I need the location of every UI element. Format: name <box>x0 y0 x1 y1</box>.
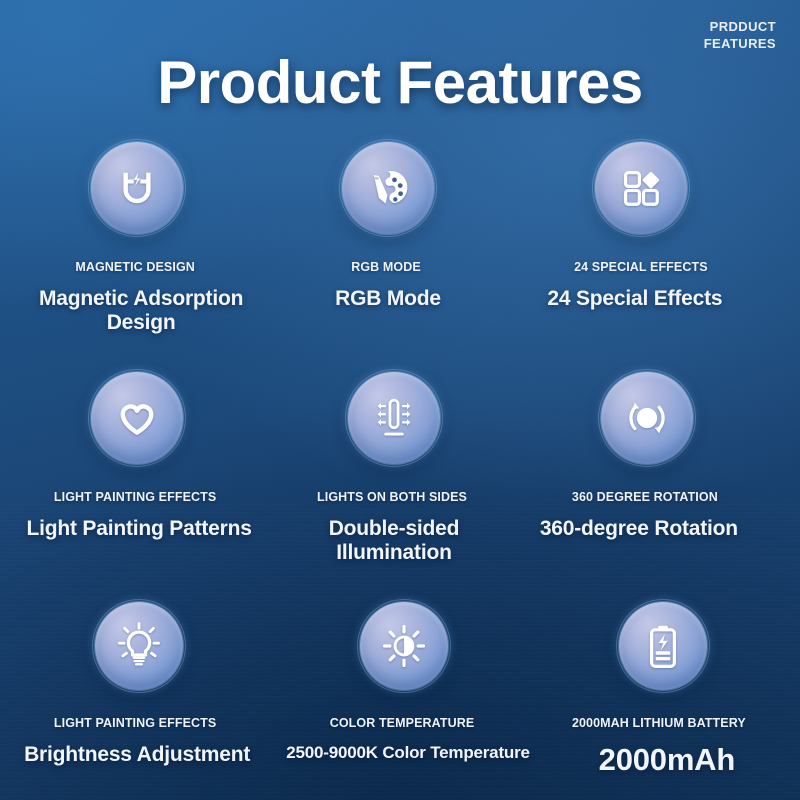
feature-headline: Brightness Adjustment <box>12 743 262 767</box>
feature-icon-bubble <box>601 372 693 464</box>
lightbulb-icon <box>113 620 165 672</box>
feature-cell: 24 SPECIAL EFFECTS24 Special Effects <box>528 142 778 372</box>
feature-cell: RGB MODERGB Mode <box>272 142 528 372</box>
palette-icon <box>362 162 414 214</box>
feature-caption: 2000MAH LITHIUM BATTERY <box>534 716 784 730</box>
feature-headline: 24 Special Effects <box>510 287 760 311</box>
feature-icon-bubble <box>342 142 434 234</box>
feature-headline: 2000mAh <box>542 743 792 778</box>
feature-headline: Light Painting Patterns <box>14 517 264 541</box>
feature-caption: LIGHT PAINTING EFFECTS <box>10 716 260 730</box>
feature-cell: 360 DEGREE ROTATION360-degree Rotation <box>528 372 778 602</box>
feature-caption: RGB MODE <box>258 260 514 274</box>
feature-caption: MAGNETIC DESIGN <box>10 260 260 274</box>
feature-headline: RGB Mode <box>260 287 516 311</box>
features-grid: MAGNETIC DESIGNMagnetic Adsorption Desig… <box>22 142 778 800</box>
shapes-grid-icon <box>615 162 667 214</box>
corner-kicker-line1: PRDDUCT <box>704 18 776 35</box>
feature-cell: COLOR TEMPERATURE2500-9000K Color Temper… <box>272 602 528 800</box>
feature-headline: Magnetic Adsorption Design <box>16 287 266 334</box>
magnet-icon <box>111 162 163 214</box>
brightness-sun-icon <box>378 620 430 672</box>
battery-charging-icon <box>637 620 689 672</box>
feature-cell: LIGHT PAINTING EFFECTSBrightness Adjustm… <box>22 602 272 800</box>
feature-icon-bubble <box>360 602 448 690</box>
feature-caption: 360 DEGREE ROTATION <box>520 490 770 504</box>
feature-icon-bubble <box>595 142 687 234</box>
rotation-360-icon <box>621 392 673 444</box>
feature-caption: LIGHTS ON BOTH SIDES <box>264 490 520 504</box>
feature-headline: Double-sided Illumination <box>266 517 522 564</box>
feature-caption: LIGHT PAINTING EFFECTS <box>10 490 260 504</box>
feature-caption: COLOR TEMPERATURE <box>274 716 530 730</box>
feature-cell: LIGHTS ON BOTH SIDESDouble-sided Illumin… <box>272 372 528 602</box>
feature-icon-bubble <box>91 372 183 464</box>
feature-caption: 24 SPECIAL EFFECTS <box>516 260 766 274</box>
heart-icon <box>111 392 163 444</box>
feature-headline: 2500-9000K Color Temperature <box>280 743 536 762</box>
page-title: Product Features <box>0 48 800 117</box>
feature-icon-bubble <box>95 602 183 690</box>
feature-cell: LIGHT PAINTING EFFECTSLight Painting Pat… <box>22 372 272 602</box>
feature-cell: MAGNETIC DESIGNMagnetic Adsorption Desig… <box>22 142 272 372</box>
poster-canvas: PRDDUCT FEATURES Product Features MAGNET… <box>0 0 800 800</box>
feature-icon-bubble <box>348 372 440 464</box>
feature-icon-bubble <box>619 602 707 690</box>
double-sided-light-icon <box>368 392 420 444</box>
feature-cell: 2000MAH LITHIUM BATTERY2000mAh <box>528 602 778 800</box>
feature-icon-bubble <box>91 142 183 234</box>
feature-headline: 360-degree Rotation <box>514 517 764 541</box>
